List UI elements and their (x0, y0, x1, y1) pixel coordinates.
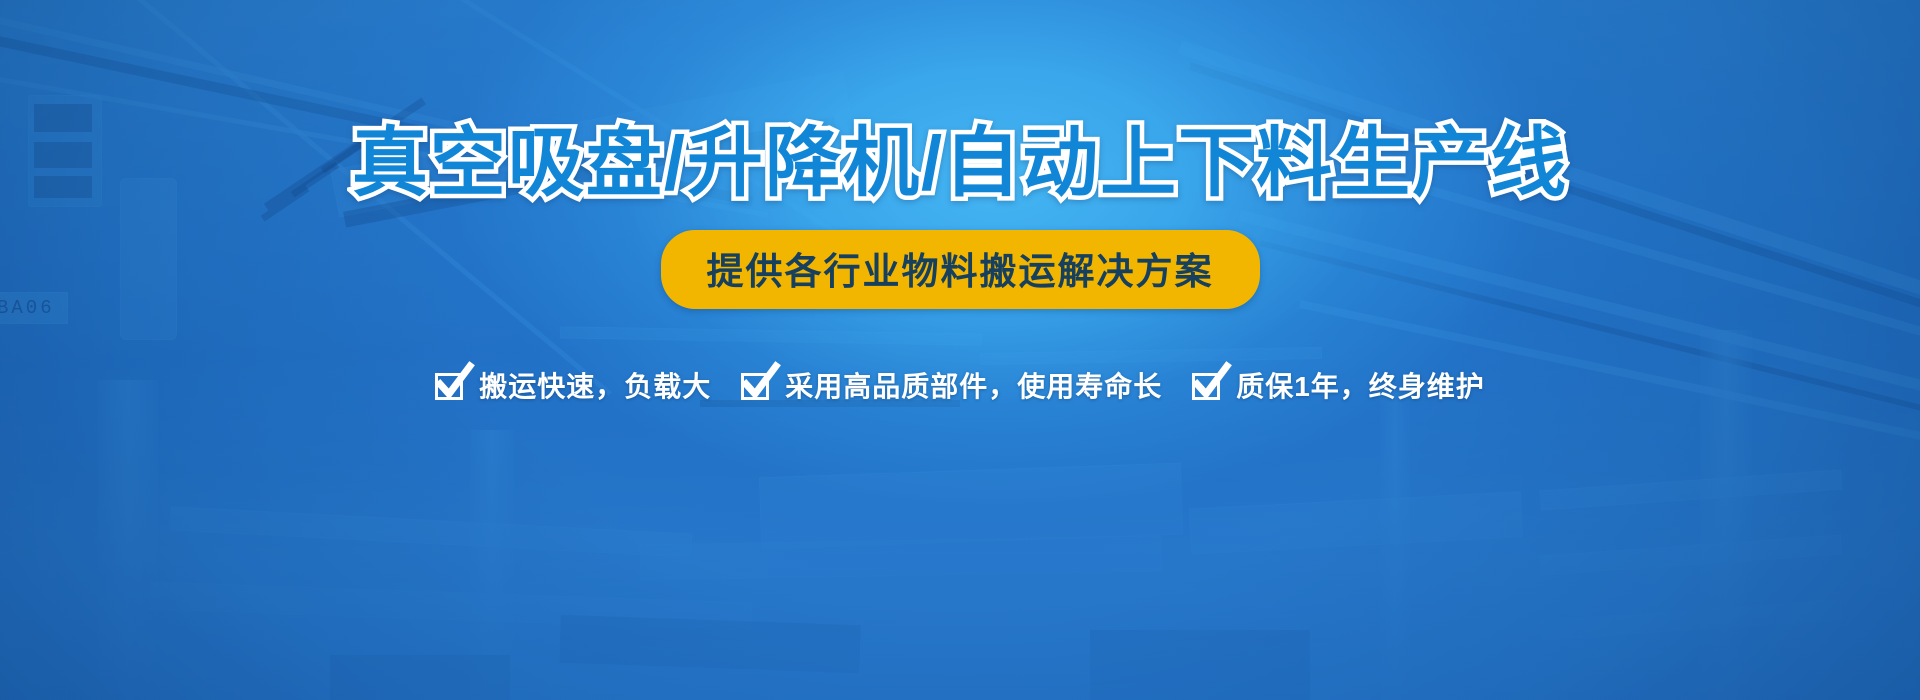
check-icon (741, 368, 775, 402)
list-item: 采用高品质部件，使用寿命长 (741, 365, 1162, 405)
page-title: 真空吸盘/升降机/自动上下料生产线 (352, 124, 1568, 204)
check-icon (1192, 368, 1226, 402)
banner-content: 真空吸盘/升降机/自动上下料生产线 提供各行业物料搬运解决方案 搬运快速，负载大 (0, 0, 1920, 700)
list-item-label: 采用高品质部件，使用寿命长 (785, 365, 1162, 405)
check-icon (435, 368, 469, 402)
list-item-label: 搬运快速，负载大 (479, 365, 711, 405)
list-item: 质保1年，终身维护 (1192, 365, 1485, 405)
list-item-label: 质保1年，终身维护 (1236, 365, 1485, 405)
promo-banner: BA06 真空吸盘/升降机/自动上下料生产线 提供各行业物料搬运解决方案 搬运快… (0, 0, 1920, 700)
subtitle-pill: 提供各行业物料搬运解决方案 (661, 230, 1260, 309)
list-item: 搬运快速，负载大 (435, 365, 711, 405)
feature-list: 搬运快速，负载大 采用高品质部件，使用寿命长 质保1 (435, 365, 1485, 405)
